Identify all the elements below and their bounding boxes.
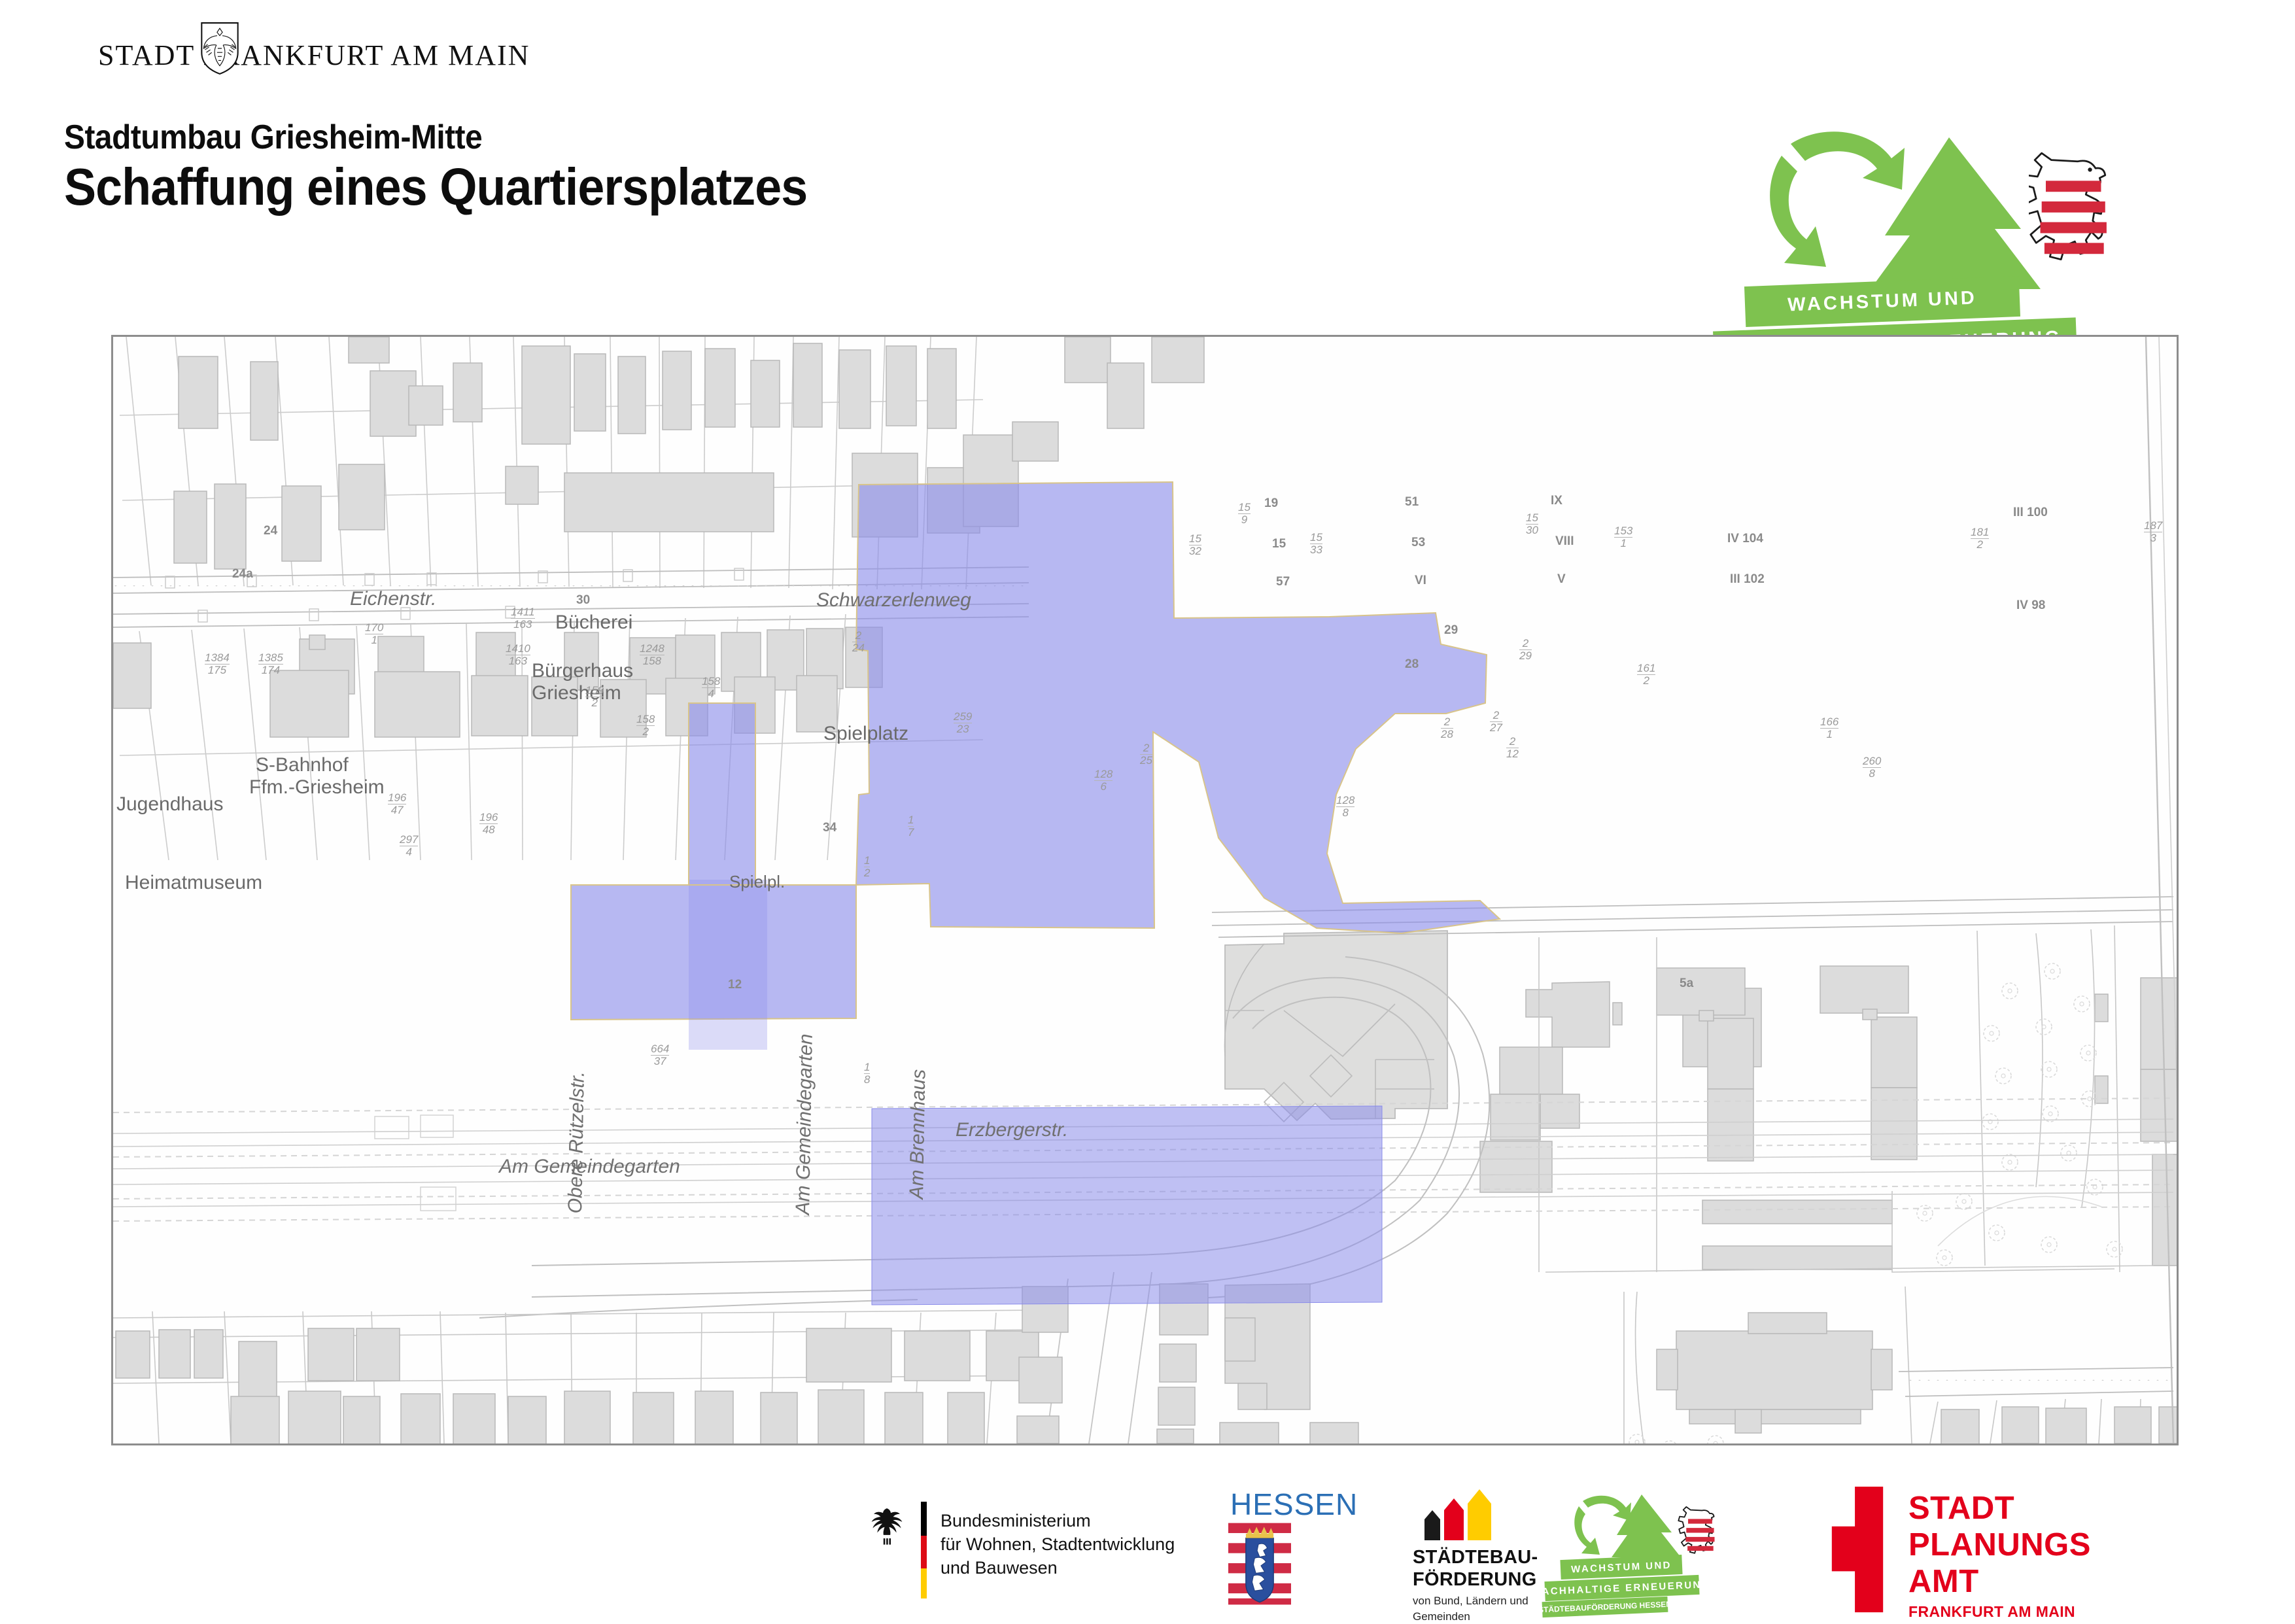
parcel-fraction: 25923 (954, 711, 972, 735)
parcel-fraction: 212 (1506, 736, 1519, 760)
flag-red-bar (921, 1536, 927, 1568)
street-label-obere-ruetzelstr: Obere Rützelstr. (564, 1071, 589, 1214)
house-number: 34 (823, 821, 837, 835)
poi-spielplatz: Spielplatz (823, 723, 908, 745)
house-number: 51 (1405, 495, 1419, 510)
flag-gold-bar (921, 1568, 927, 1598)
house-number: 24a (232, 567, 253, 581)
page-title: Schaffung eines Quartiersplatzes (64, 157, 807, 217)
poi-heimatmuseum: Heimatmuseum (125, 872, 262, 894)
three-houses-icon (1413, 1488, 1511, 1540)
parcel-fraction: 1411163 (511, 606, 535, 631)
house-number: 30 (576, 593, 590, 608)
poi-spielpl: Spielpl. (729, 872, 785, 892)
house-number: 57 (1276, 575, 1290, 589)
logo-wachstum-footer: WACHSTUM UND NACHHALTIGE ERNEUERUNG STÄD… (1568, 1487, 1765, 1611)
logo-hessen: HESSEN (1226, 1487, 1344, 1611)
hessen-coat-of-arms-icon (1228, 1523, 1291, 1605)
parcel-fraction: 1582 (636, 714, 655, 738)
parcel-fraction: 159 (1238, 502, 1251, 526)
parcel-fraction: 1701 (365, 622, 383, 646)
spa-line-2: PLANUNGS (1908, 1527, 2091, 1563)
ministry-line-2: für Wohnen, Stadtentwicklung (940, 1533, 1175, 1557)
house-number: IV 104 (1727, 532, 1763, 546)
street-label-am-gemeindegarten: Am Gemeindegarten (499, 1156, 680, 1178)
parcel-fraction: 1385174 (258, 652, 283, 676)
cadastral-map[interactable]: Eichenstr. Schwarzerlenweg Erzbergerstr.… (111, 335, 2179, 1445)
house-number: 29 (1444, 623, 1458, 638)
spa-subtitle: FRANKFURT AM MAIN (1908, 1603, 2075, 1621)
parcel-fraction: 1533 (1310, 532, 1322, 556)
parcel-fraction: 19648 (479, 812, 498, 836)
parcel-fraction: 1661 (1820, 716, 1838, 740)
parcel-fraction: 1248158 (640, 643, 664, 667)
parcel-fraction: 227 (1490, 710, 1502, 734)
ministry-line-3: und Bauwesen (940, 1557, 1058, 1580)
spa-line-3: AMT (1908, 1564, 1979, 1600)
house-number: 53 (1411, 536, 1425, 550)
logo-bundesministerium: Bundesministerium für Wohnen, Stadtentwi… (870, 1498, 1177, 1602)
house-number: 24 (264, 524, 277, 538)
hessen-wordmark: HESSEN (1230, 1487, 1358, 1522)
house-number: 15 (1272, 537, 1286, 551)
parcel-fraction: 2608 (1863, 755, 1881, 780)
house-number: III 102 (1730, 572, 1765, 587)
spa-line-1: STADT (1908, 1491, 2014, 1527)
parcel-fraction: 17 (908, 814, 914, 838)
house-number: 12 (728, 978, 742, 992)
parcel-fraction: 1530 (1526, 512, 1538, 536)
parcel-fraction: 228 (1441, 716, 1453, 740)
house-number: 5a (1680, 976, 1693, 991)
city-logo-text: STADT FRANKFURT AM MAIN (98, 39, 530, 71)
street-label-erzbergerstr: Erzbergerstr. (956, 1119, 1068, 1141)
parcel-fraction: 1812 (1971, 527, 1989, 551)
house-number: 19 (1264, 496, 1278, 511)
street-label-schwarzerlenweg: Schwarzerlenweg (816, 589, 971, 612)
parcel-fraction: 1584 (702, 676, 720, 700)
frankfurt-bracket-mark-icon (1831, 1487, 1884, 1615)
stf-line-1: STÄDTEBAU- (1413, 1546, 1538, 1569)
federal-eagle-icon (870, 1506, 904, 1546)
house-number: IV 98 (2016, 598, 2045, 613)
parcel-fraction: 19647 (388, 792, 406, 816)
parcel-fraction: 1592 (585, 685, 604, 709)
parcel-fraction: 1410163 (506, 643, 530, 667)
page-subtitle: Stadtumbau Griesheim-Mitte (64, 118, 482, 157)
street-label-eichenstr: Eichenstr. (350, 588, 436, 610)
poi-ffm-griesheim: Ffm.-Griesheim (249, 776, 385, 799)
ministry-line-1: Bundesministerium (940, 1510, 1091, 1533)
parcel-fraction: 18 (864, 1062, 870, 1086)
hessen-lion-icon (2029, 152, 2113, 276)
frankfurt-eagle-crest-icon (199, 22, 240, 75)
poi-s-bahnhof: S-Bahnhof (256, 754, 349, 776)
city-logo: STADT FRANKFURT AM MAIN (98, 36, 517, 75)
street-label-am-brennhaus: Am Brennhaus (906, 1069, 930, 1200)
map-drawing (113, 337, 2177, 1443)
parcel-fraction: 1286 (1094, 769, 1113, 793)
house-number: VIII (1555, 534, 1574, 549)
poi-buecherei: Bücherei (555, 612, 632, 634)
stf-sub-1: von Bund, Ländern und (1413, 1594, 1528, 1608)
footer-logo-bar: Bundesministerium für Wohnen, Stadtentwi… (0, 1475, 2295, 1622)
poi-jugendhaus: Jugendhaus (116, 793, 223, 816)
parcel-fraction: 1873 (2144, 520, 2162, 544)
parcel-fraction: 2974 (400, 834, 418, 858)
parcel-fraction: 66437 (651, 1043, 669, 1067)
parcel-fraction: 1531 (1614, 525, 1632, 549)
house-number: III 100 (2013, 506, 2048, 520)
poi-griesheim: Griesheim (532, 682, 621, 704)
parcel-fraction: 1384175 (205, 652, 230, 676)
logo-stadtplanungsamt: STADT PLANUNGS AMT FRANKFURT AM MAIN (1831, 1487, 2171, 1617)
parcel-fraction: 224 (852, 630, 865, 654)
parcel-fraction: 229 (1519, 638, 1532, 662)
house-number: VI (1415, 574, 1426, 588)
parcel-fraction: 1288 (1336, 795, 1355, 819)
poi-buergerhaus: Bürgerhaus (532, 660, 633, 682)
parcel-fraction: 225 (1140, 742, 1152, 767)
parcel-fraction: 1532 (1189, 533, 1201, 557)
parcel-fraction: 1612 (1637, 663, 1655, 687)
stf-line-2: FÖRDERUNG (1413, 1568, 1537, 1591)
parcel-fraction: 12 (864, 855, 870, 879)
house-number: 28 (1405, 657, 1419, 672)
street-label-am-gemeindegarten-2: Am Gemeindegarten (792, 1033, 818, 1215)
house-number: V (1557, 572, 1566, 587)
house-number: IX (1551, 494, 1562, 508)
